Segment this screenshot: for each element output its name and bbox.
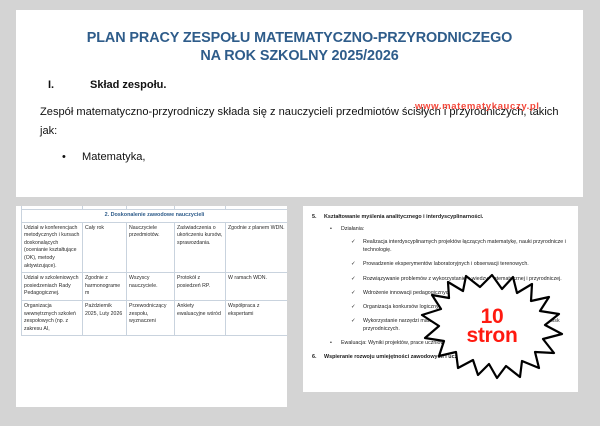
check-icon: ✓: [351, 303, 363, 311]
cell-responsible: Nauczyciele przedmiotów.: [127, 222, 175, 273]
actions-label-row: • Działania:: [303, 226, 578, 232]
action-item: ✓ Prowadzenie eksperymentów laboratoryjn…: [303, 260, 578, 268]
actions-label: Działania:: [341, 226, 364, 232]
check-icon: ✓: [351, 260, 363, 268]
training-table: 2. Doskonalenie zawodowe nauczycieli Udz…: [21, 206, 287, 336]
section-6-heading: 6. Wspieranie rozwoju umiejętności zawod…: [303, 354, 578, 360]
cell-notes: W ramach WDN.: [226, 273, 288, 301]
list-item-label: Matematyka,: [82, 151, 146, 163]
page-title-line-1: PLAN PRACY ZESPOŁU MATEMATYCZNO-PRZYRODN…: [16, 10, 583, 47]
cell-term: Październik 2025, Luty 2026: [83, 300, 127, 335]
table-row: Udział w szkoleniowych posiedzeniach Rad…: [22, 273, 288, 301]
right-document-page: 5. Kształtowanie myślenia analitycznego …: [303, 206, 578, 392]
action-item-label: Wdrożenie innowacji pedagogicznych matem…: [363, 289, 568, 297]
cell-term: Cały rok: [83, 222, 127, 273]
action-item-label: Rozwiązywanie problemów z wykorzystaniem…: [363, 275, 568, 283]
cell-task: Organizacja wewnętrznych szkoleń zespoło…: [22, 300, 83, 335]
table-row: Organizacja wewnętrznych szkoleń zespoło…: [22, 300, 288, 335]
cell-documentation: Ankiety ewaluacyjne wśród: [175, 300, 226, 335]
action-item-label: Organizacja konkursów logicznych i matem…: [363, 303, 568, 311]
cell-responsible: Wszyscy nauczyciele.: [127, 273, 175, 301]
bullet-dot-icon: •: [330, 226, 341, 232]
section-heading: I. Skład zespołu.: [16, 79, 583, 91]
page-title-line-2: NA ROK SZKOLNY 2025/2026: [16, 47, 583, 65]
section-5-heading: 5. Kształtowanie myślenia analitycznego …: [303, 214, 578, 220]
list-item: • Matematyka,: [16, 151, 583, 163]
cell-term: Zgodnie z harmonogramem: [83, 273, 127, 301]
table-header-row: 2. Doskonalenie zawodowe nauczycieli: [22, 210, 288, 223]
bullet-dot-icon: •: [62, 152, 82, 163]
action-item: ✓ Wykorzystanie narzędzi matematycznych …: [303, 317, 578, 333]
section-number: I.: [48, 79, 90, 91]
action-item: ✓ Realizacja interdyscyplinarnych projek…: [303, 238, 578, 254]
bullet-dot-icon: •: [330, 340, 341, 346]
table-row: Udział w konferencjach metodycznych i ku…: [22, 222, 288, 273]
top-document-page: PLAN PRACY ZESPOŁU MATEMATYCZNO-PRZYRODN…: [16, 10, 583, 197]
evaluation-label: Ewaluacja: Wyniki projektów, prace uczni…: [341, 340, 489, 346]
section-title: Skład zespołu.: [90, 79, 166, 91]
section-5-title: Kształtowanie myślenia analitycznego i i…: [324, 214, 483, 220]
check-icon: ✓: [351, 289, 363, 297]
cell-task: Udział w konferencjach metodycznych i ku…: [22, 222, 83, 273]
check-icon: ✓: [351, 275, 363, 283]
check-icon: ✓: [351, 238, 363, 254]
left-table-page: 2. Doskonalenie zawodowe nauczycieli Udz…: [16, 206, 287, 407]
cell-notes: Współpraca z ekspertami: [226, 300, 288, 335]
action-item-label: Realizacja interdyscyplinarnych projektó…: [363, 238, 568, 254]
check-icon: ✓: [351, 317, 363, 333]
cell-task: Udział w szkoleniowych posiedzeniach Rad…: [22, 273, 83, 301]
action-item: ✓ Wdrożenie innowacji pedagogicznych mat…: [303, 289, 578, 297]
cell-responsible: Przewodniczący zespołu, wyznaczeni: [127, 300, 175, 335]
section-6-number: 6.: [312, 354, 324, 360]
cell-notes: Zgodnie z planem WDN.: [226, 222, 288, 273]
cell-documentation: Protokół z posiedzeń RP.: [175, 273, 226, 301]
action-item: ✓ Rozwiązywanie problemów z wykorzystani…: [303, 275, 578, 283]
section-6-title: Wspieranie rozwoju umiejętności zawodowy…: [324, 354, 521, 360]
website-watermark: www.matematykauczy.pl: [415, 101, 540, 112]
action-item-label: Prowadzenie eksperymentów laboratoryjnyc…: [363, 260, 568, 268]
section-5-number: 5.: [312, 214, 324, 220]
cell-documentation: Zaświadczenia o ukończeniu kursów, spraw…: [175, 222, 226, 273]
table-section-header: 2. Doskonalenie zawodowe nauczycieli: [22, 210, 288, 223]
action-item-label: Wykorzystanie narzędzi matematycznych (n…: [363, 317, 568, 333]
action-item: ✓ Organizacja konkursów logicznych i mat…: [303, 303, 578, 311]
evaluation-row: • Ewaluacja: Wyniki projektów, prace ucz…: [303, 340, 578, 346]
